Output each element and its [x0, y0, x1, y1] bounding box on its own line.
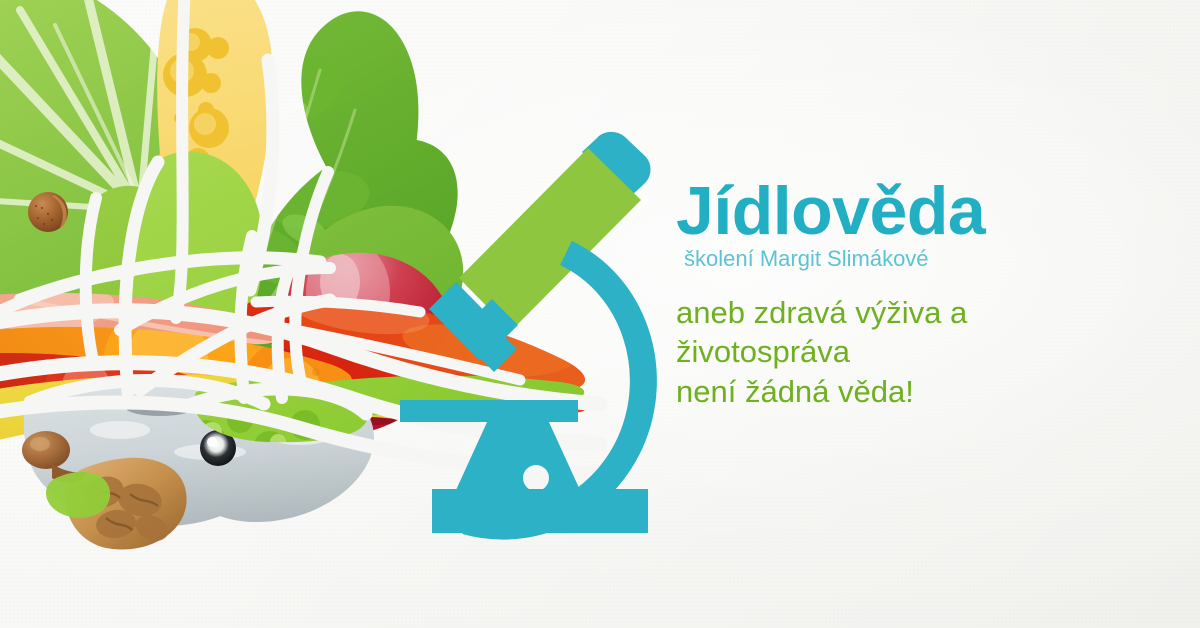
neck	[456, 420, 580, 490]
stage	[400, 400, 578, 422]
base	[432, 489, 648, 533]
tagline: aneb zdravá výživa a životospráva není ž…	[676, 293, 1146, 412]
page-subtitle: školení Margit Slimákové	[684, 247, 1176, 271]
promo-banner: Jídlověda školení Margit Slimákové aneb …	[0, 0, 1200, 628]
brand-text-block: Jídlověda školení Margit Slimákové aneb …	[676, 178, 1176, 412]
tagline-line-2: není žádná věda!	[676, 372, 1146, 412]
page-title: Jídlověda	[676, 178, 1176, 245]
focus-knob	[523, 465, 549, 491]
tagline-line-1: aneb zdravá výživa a životospráva	[676, 293, 1146, 372]
